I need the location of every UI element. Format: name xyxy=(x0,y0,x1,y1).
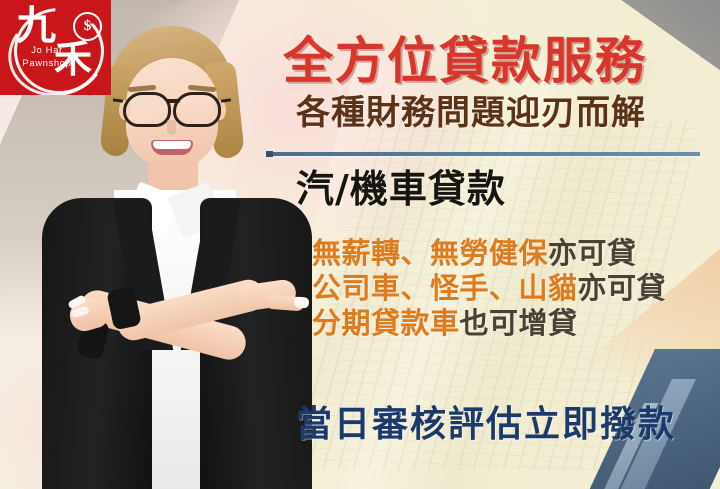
bullet-tail: 也可增貸 xyxy=(460,306,578,340)
list-item: 分期貸款車也可增貸 xyxy=(312,306,702,341)
list-item: 公司車、怪手、山貓亦可貸 xyxy=(312,271,702,306)
bullet-tail: 亦可貸 xyxy=(548,236,637,270)
eyeglasses-icon xyxy=(118,92,226,122)
logo-english-name: Jo Har Pawnshop xyxy=(8,44,86,70)
bullet-list: 無薪轉、無勞健保亦可貸 公司車、怪手、山貓亦可貸 分期貸款車也可增貸 xyxy=(312,236,702,341)
dollar-coin-icon: $ xyxy=(73,12,102,41)
footer-callout: 當日審核評估立即撥款 xyxy=(296,406,676,442)
list-item: 無薪轉、無勞健保亦可貸 xyxy=(312,236,702,271)
divider-line xyxy=(266,152,700,156)
headline-sub: 各種財務問題迎刃而解 xyxy=(296,96,696,130)
headline-main: 全方位貸款服務 xyxy=(283,36,693,86)
bullet-highlight: 分期貸款車 xyxy=(312,306,460,340)
pawnshop-logo[interactable]: 九 禾 $ Jo Har Pawnshop xyxy=(0,0,111,95)
logo-char-top: 九 xyxy=(16,6,56,46)
bullet-tail: 亦可貸 xyxy=(578,271,667,305)
advertisement-banner: 九 禾 $ Jo Har Pawnshop 全方位貸款服務 各種財務問題迎刃而解… xyxy=(0,0,720,489)
bullet-highlight: 公司車、怪手、山貓 xyxy=(312,271,578,305)
bullet-highlight: 無薪轉、無勞健保 xyxy=(312,236,548,270)
category-title: 汽/機車貸款 xyxy=(296,170,506,208)
